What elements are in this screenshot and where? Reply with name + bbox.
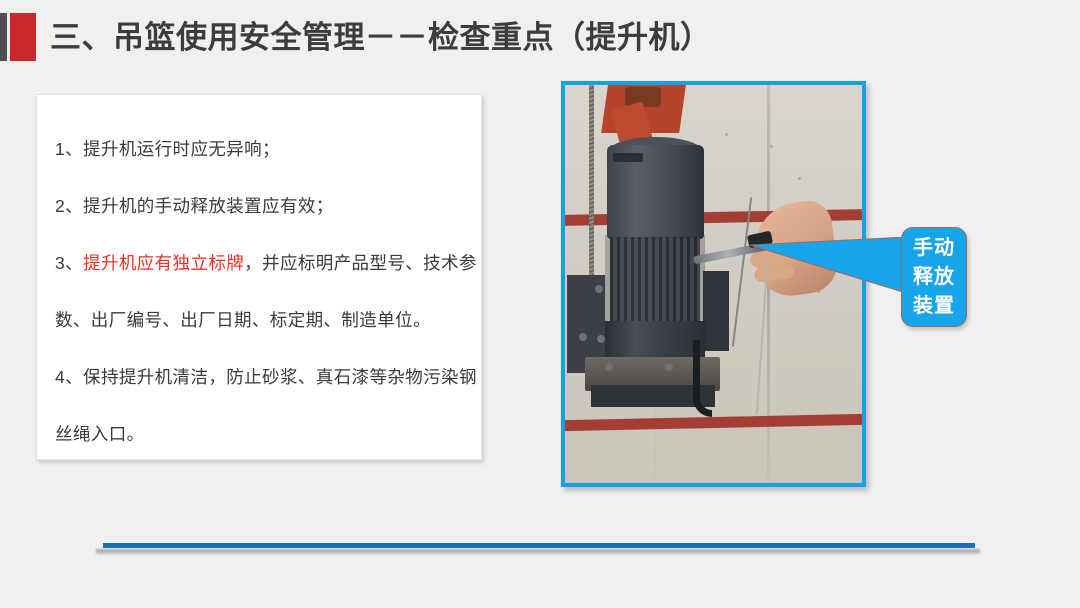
motor-housing-mid [605,235,705,325]
callout-line: 释放 [913,263,955,292]
callout-manual-release-device: 手动 释放 装置 [901,227,967,327]
list-item-text: ，并应标明产品型号、技术参 [244,253,477,273]
list-item-text: 提升机运行时应无异响； [83,139,280,159]
list-item: 数、出厂编号、出厂日期、标定期、制造单位。 [55,292,463,349]
callout-line: 装置 [913,292,955,321]
bolt [597,335,605,343]
list-item: 1、提升机运行时应无异响； [55,121,463,178]
list-item-text: 保持提升机清洁，防止砂浆、真石漆等杂物污染钢 [83,367,477,387]
footer-rule-shadow [96,549,980,554]
bolt [605,363,613,371]
list-item: 3、提升机应有独立标牌，并应标明产品型号、技术参 [55,235,463,292]
title-marker-dark-bar [0,13,7,61]
slide-root: 三、吊篮使用安全管理－－检查重点（提升机） 1、提升机运行时应无异响； 2、提升… [0,0,1080,608]
list-item-text: 数、出厂编号、出厂日期、标定期、制造单位。 [55,310,431,330]
title-marker-red-block [10,13,36,61]
bolt [579,333,587,341]
motor-housing-ridge [613,153,643,162]
wall-speck [770,145,773,148]
list-item-prefix: 2、 [55,196,83,216]
list-item: 4、保持提升机清洁，防止砂浆、真石漆等杂物污染钢 [55,349,463,406]
bolt [595,285,603,293]
list-item-prefix: 4、 [55,367,83,387]
wall-speck [725,133,728,136]
callout-line: 手动 [913,234,955,263]
list-item: 2、提升机的手动释放装置应有效； [55,178,463,235]
slide-title-row: 三、吊篮使用安全管理－－检查重点（提升机） [0,12,712,62]
list-item-text: 丝绳入口。 [55,424,145,444]
motor-side-plate-right [703,271,729,351]
wall-speck [798,177,801,180]
content-panel: 1、提升机运行时应无异响； 2、提升机的手动释放装置应有效； 3、提升机应有独立… [36,94,482,460]
power-cable [693,340,712,417]
footer-rule [103,543,975,548]
list-item-text: 提升机的手动释放装置应有效； [83,196,334,216]
callout-pointer-tail [750,237,906,293]
list-item-highlight: 提升机应有独立标牌 [83,253,244,273]
list-item: 丝绳入口。 [55,406,463,463]
list-item-prefix: 3、 [55,253,83,273]
list-item-prefix: 1、 [55,139,83,159]
page-title: 三、吊篮使用安全管理－－检查重点（提升机） [50,22,712,53]
bolt [665,363,673,371]
steel-wire-rope [589,85,594,300]
